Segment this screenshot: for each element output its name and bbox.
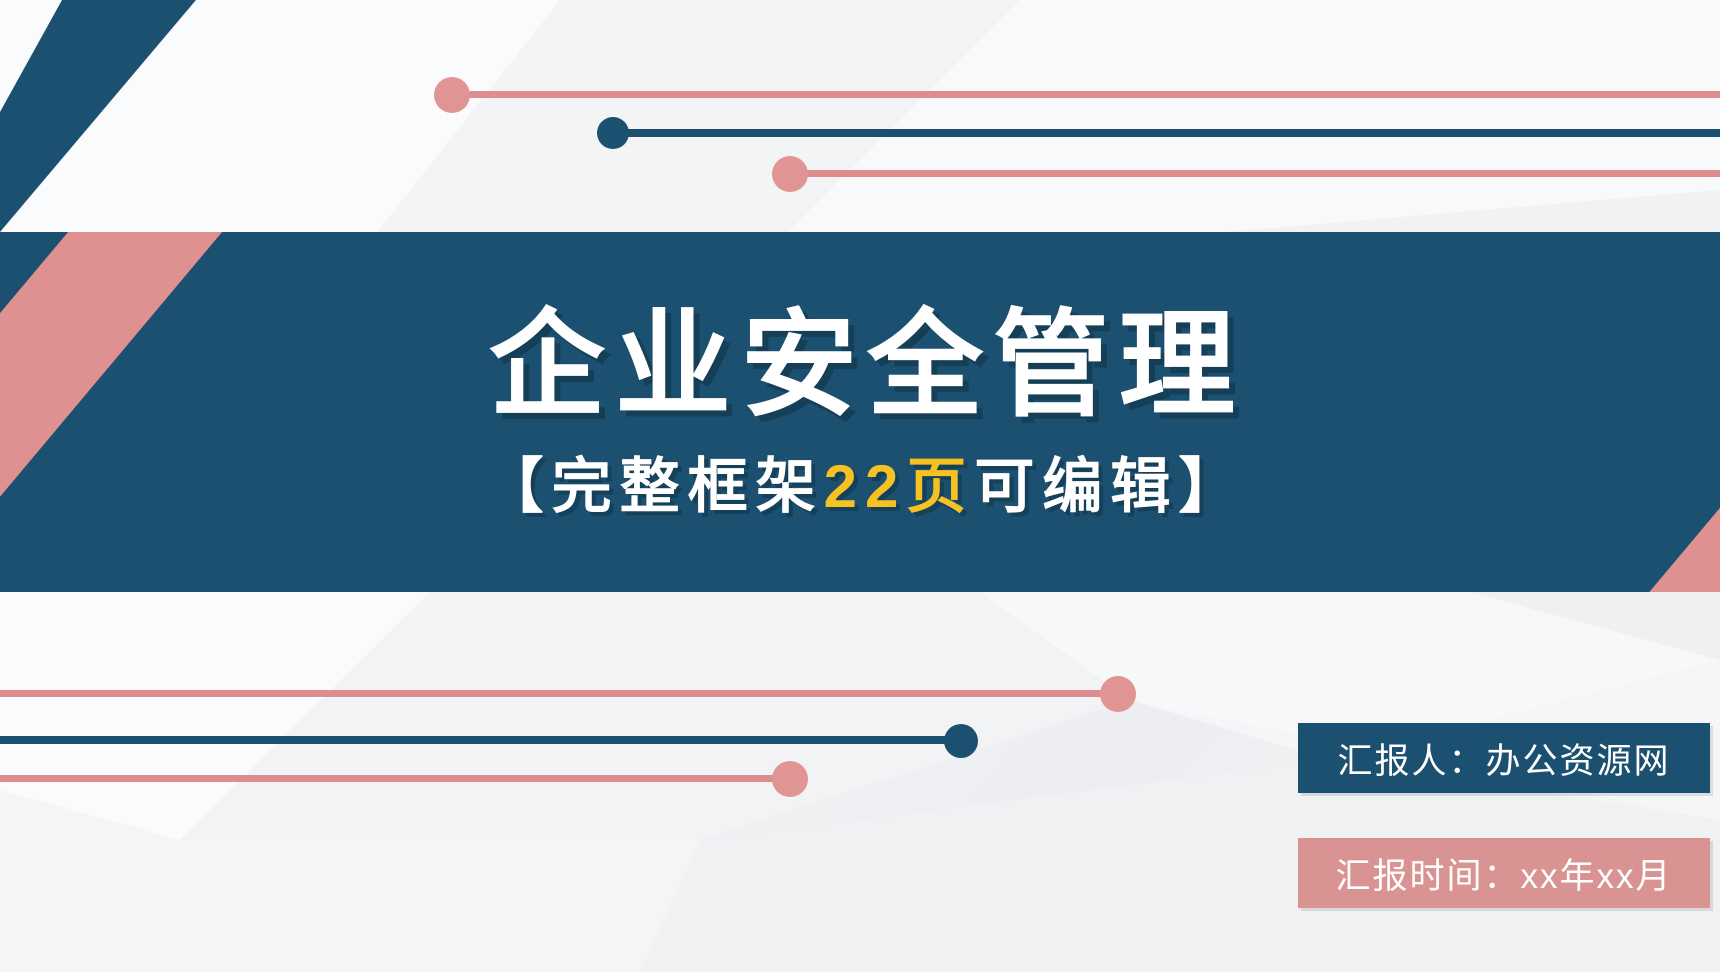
subtitle-highlight: 22页 (824, 453, 975, 520)
subtitle-prefix: 【完整框架 (484, 453, 824, 520)
title-block: 企业安全管理 【完整框架22页可编辑】 (0, 232, 1720, 592)
decorative-dot-bottom-2 (944, 724, 978, 758)
decorative-line-bottom-1 (0, 690, 1110, 697)
decorative-line-top-2 (620, 129, 1720, 137)
decorative-line-bottom-3 (0, 775, 790, 782)
decorative-line-bottom-2 (0, 736, 958, 744)
date-badge: 汇报时间：xx年xx月 (1298, 838, 1710, 908)
decorative-dot-bottom-1 (1100, 676, 1136, 712)
decorative-dot-top-1 (434, 77, 470, 113)
date-label: 汇报时间：xx年xx月 (1335, 848, 1672, 899)
page-title: 企业安全管理 (489, 303, 1245, 428)
decorative-dot-top-2 (597, 117, 629, 149)
presenter-badge: 汇报人：办公资源网 (1298, 723, 1710, 793)
subtitle-suffix: 可编辑】 (974, 453, 1246, 520)
decorative-dot-top-3 (772, 156, 808, 192)
page-subtitle: 【完整框架22页可编辑】 (484, 452, 1247, 521)
decorative-line-top-3 (800, 170, 1720, 177)
presentation-slide: 企业安全管理 【完整框架22页可编辑】 汇报人：办公资源网 汇报时间：xx年xx… (0, 0, 1720, 972)
decorative-line-top-1 (452, 91, 1720, 98)
presenter-label: 汇报人：办公资源网 (1337, 733, 1670, 784)
decorative-dot-bottom-3 (772, 761, 808, 797)
